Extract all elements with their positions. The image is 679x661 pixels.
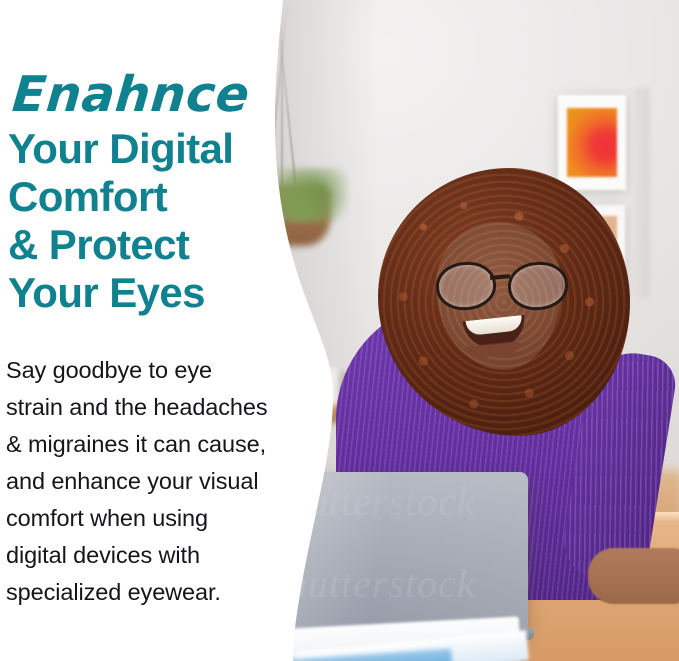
eyeglass-bridge [490,274,510,279]
doorway-edge [634,88,650,298]
headline-line-4: Your Eyes [8,269,298,317]
body-line: specialized eyewear. [6,574,298,611]
copy-block: Enahnce Your Digital Comfort & Protect Y… [0,0,300,661]
laptop-sheen [260,472,528,634]
eyeglass-lens-right [506,259,570,312]
body-line: and enhance your visual [6,463,298,500]
body-line: strain and the headaches [6,389,298,426]
body-line: & migraines it can cause, [6,426,298,463]
eyeglasses [434,262,568,306]
headline-script-word: Enahnce [10,66,303,124]
headline-line-3: & Protect [8,221,298,269]
body-line: Say goodbye to eye [6,352,298,389]
headline-line-2: Comfort [8,173,298,221]
body-line: digital devices with [6,537,298,574]
headline-line-1: Your Digital [8,125,298,173]
hero-photo: Shutterstock Shutterstock [258,0,679,661]
body-line: comfort when using [6,500,298,537]
eyeglass-lens-left [434,259,498,312]
body-paragraph: Say goodbye to eye strain and the headac… [6,352,298,611]
eyewear-promo-banner: Shutterstock Shutterstock Enahnce Your D… [0,0,679,661]
person-hand [588,548,679,604]
framed-artwork [558,95,626,190]
artwork-canvas [567,108,617,177]
headline: Enahnce Your Digital Comfort & Protect Y… [8,66,298,317]
